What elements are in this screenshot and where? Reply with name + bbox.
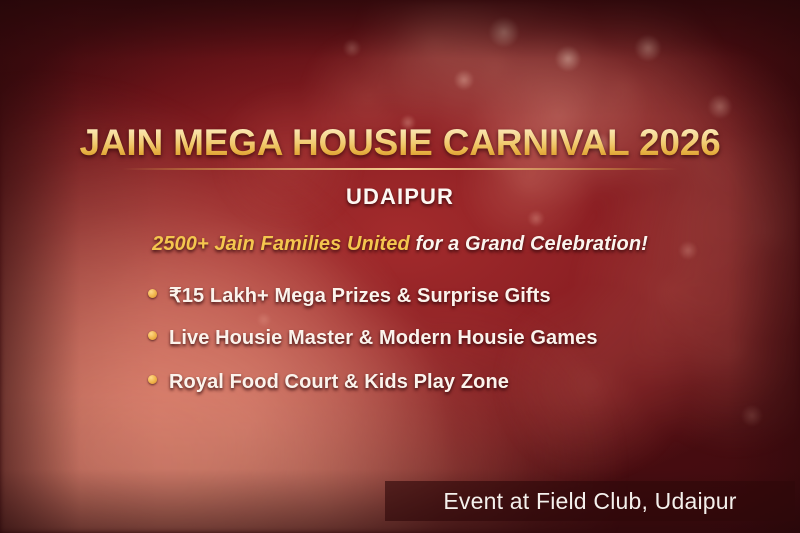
- venue-banner: Event at Field Club, Udaipur: [385, 481, 795, 521]
- list-item: Live Housie Master & Modern Housie Games: [148, 327, 598, 371]
- title-divider-rule: [122, 168, 678, 170]
- title-block: JAIN MEGA HOUSIE CARNIVAL 2026 UDAIPUR: [0, 124, 800, 210]
- venue-label: Event at Field Club, Udaipur: [443, 488, 736, 515]
- poster-city: UDAIPUR: [0, 184, 800, 210]
- list-item: ₹15 Lakh+ Mega Prizes & Surprise Gifts: [148, 283, 598, 327]
- bullet-dot-icon: [148, 289, 157, 298]
- feature-label: Live Housie Master & Modern Housie Games: [169, 327, 598, 350]
- tagline-highlight: 2500+ Jain Families United: [152, 233, 410, 255]
- event-poster: JAIN MEGA HOUSIE CARNIVAL 2026 UDAIPUR 2…: [0, 0, 800, 533]
- feature-label: Royal Food Court & Kids Play Zone: [169, 371, 509, 394]
- bullet-dot-icon: [148, 331, 157, 340]
- poster-tagline: 2500+ Jain Families United for a Grand C…: [0, 233, 800, 256]
- poster-content: JAIN MEGA HOUSIE CARNIVAL 2026 UDAIPUR 2…: [0, 0, 800, 533]
- poster-title: JAIN MEGA HOUSIE CARNIVAL 2026: [0, 124, 800, 162]
- tagline-rest: for a Grand Celebration!: [410, 233, 648, 255]
- bullet-dot-icon: [148, 375, 157, 384]
- feature-label: ₹15 Lakh+ Mega Prizes & Surprise Gifts: [169, 283, 551, 308]
- feature-list: ₹15 Lakh+ Mega Prizes & Surprise Gifts L…: [148, 283, 598, 415]
- list-item: Royal Food Court & Kids Play Zone: [148, 371, 598, 415]
